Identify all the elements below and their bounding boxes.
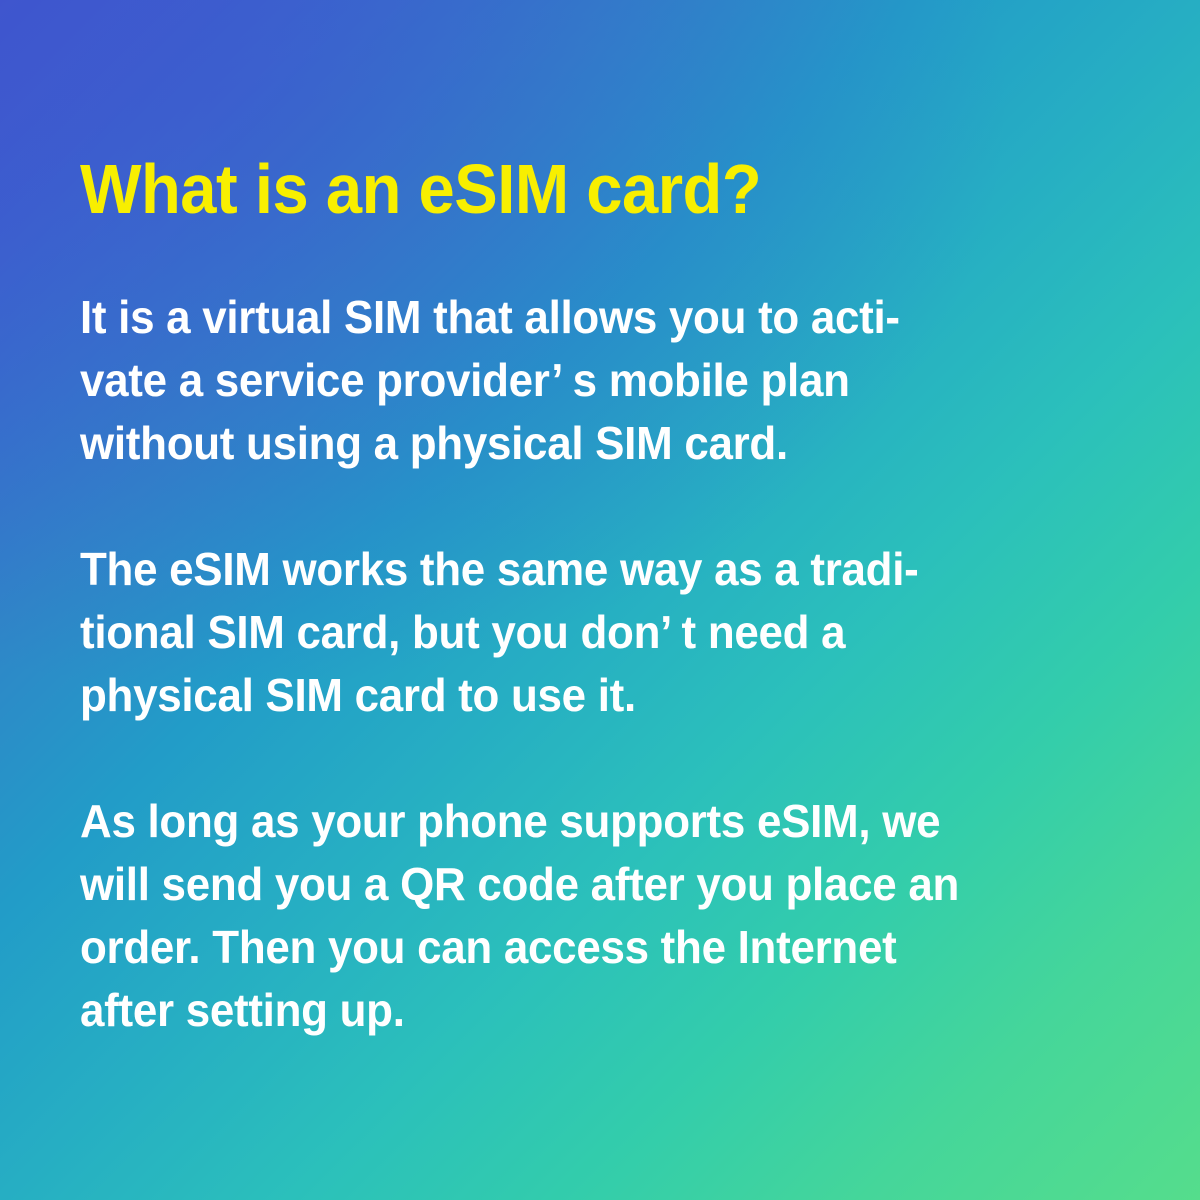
body-text-block: It is a virtual SIM that allows you to a… — [80, 286, 1021, 1042]
paragraph-delivery: As long as your phone supports eSIM, we … — [80, 790, 1021, 1042]
page-title: What is an eSIM card? — [80, 152, 973, 226]
paragraph-definition: It is a virtual SIM that allows you to a… — [80, 286, 1021, 475]
promo-poster: What is an eSIM card? It is a virtual SI… — [0, 0, 1200, 1200]
paragraph-comparison: The eSIM works the same way as a tradi- … — [80, 538, 1021, 727]
